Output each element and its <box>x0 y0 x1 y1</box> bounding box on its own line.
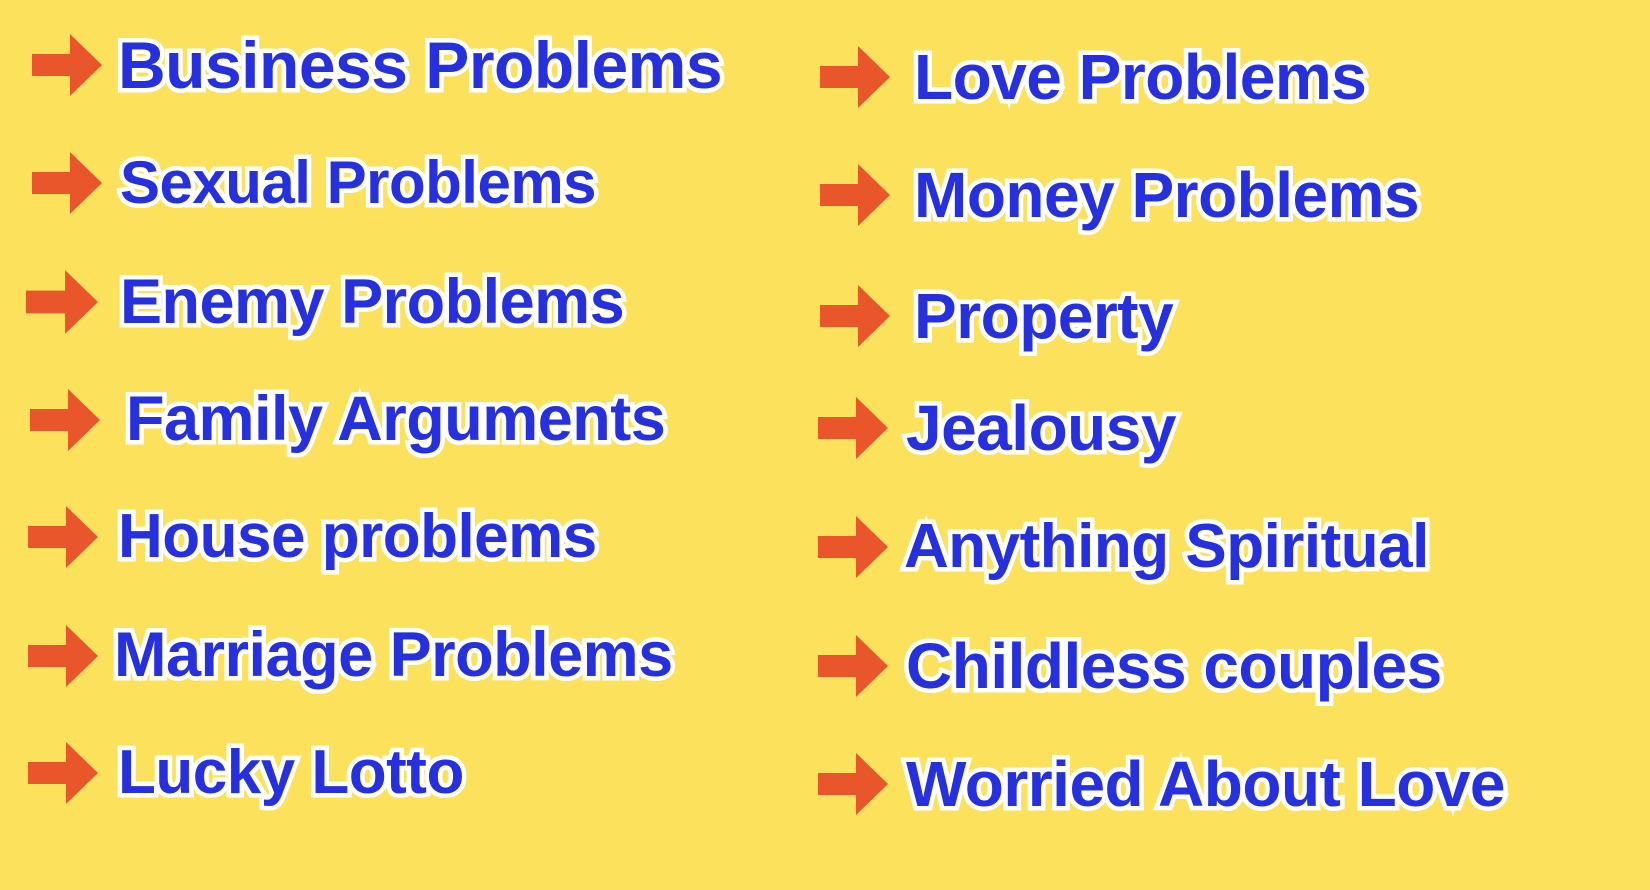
problems-list-poster: Business Problems Sexual Problems Enemy … <box>0 0 1650 890</box>
list-item-label: Jealousy <box>906 396 1176 460</box>
list-item[interactable]: Worried About Love <box>818 752 1505 816</box>
right-arrow-icon <box>28 506 98 568</box>
list-item[interactable]: Money Problems <box>820 163 1419 227</box>
right-arrow-icon <box>818 397 888 459</box>
left-column: Business Problems Sexual Problems Enemy … <box>0 0 800 890</box>
list-item[interactable]: Property <box>820 284 1173 348</box>
list-item[interactable]: House problems <box>28 506 597 568</box>
list-item[interactable]: Lucky Lotto <box>28 742 464 804</box>
list-item-label: Lucky Lotto <box>118 742 464 804</box>
list-item[interactable]: Jealousy <box>818 396 1176 460</box>
right-arrow-icon <box>818 635 888 697</box>
right-arrow-icon <box>818 753 888 815</box>
list-item[interactable]: Business Problems <box>32 32 722 98</box>
list-item-label: Property <box>914 284 1173 348</box>
list-item-label: Anything Spiritual <box>904 516 1429 578</box>
list-item-label: Sexual Problems <box>120 153 596 213</box>
list-item[interactable]: Love Problems <box>820 45 1366 109</box>
list-item[interactable]: Sexual Problems <box>32 152 596 214</box>
right-arrow-icon <box>30 389 100 451</box>
right-arrow-icon <box>28 742 98 804</box>
list-item[interactable]: Marriage Problems <box>28 624 673 687</box>
right-arrow-icon <box>820 164 890 226</box>
list-item-label: Marriage Problems <box>114 624 673 687</box>
list-item-label: Worried About Love <box>906 752 1505 816</box>
right-arrow-icon <box>820 46 890 108</box>
list-item-label: Childless couples <box>906 634 1442 698</box>
right-arrow-icon <box>820 285 890 347</box>
list-item[interactable]: Family Arguments <box>30 388 665 451</box>
list-item-label: Business Problems <box>118 32 722 98</box>
list-item-label: Love Problems <box>914 45 1366 109</box>
list-item-label: Money Problems <box>914 163 1419 227</box>
right-arrow-icon <box>32 152 102 214</box>
right-column: Love Problems Money Problems Property <box>810 0 1650 890</box>
list-item[interactable]: Enemy Problems <box>26 270 624 334</box>
right-arrow-icon <box>818 516 888 578</box>
list-item-label: Family Arguments <box>126 388 665 451</box>
right-arrow-icon <box>32 34 102 96</box>
list-item[interactable]: Childless couples <box>818 634 1442 698</box>
list-item-label: House problems <box>118 506 597 568</box>
list-item-label: Enemy Problems <box>120 271 624 334</box>
list-item[interactable]: Anything Spiritual <box>818 516 1429 578</box>
right-arrow-icon <box>26 270 98 334</box>
right-arrow-icon <box>28 625 98 687</box>
